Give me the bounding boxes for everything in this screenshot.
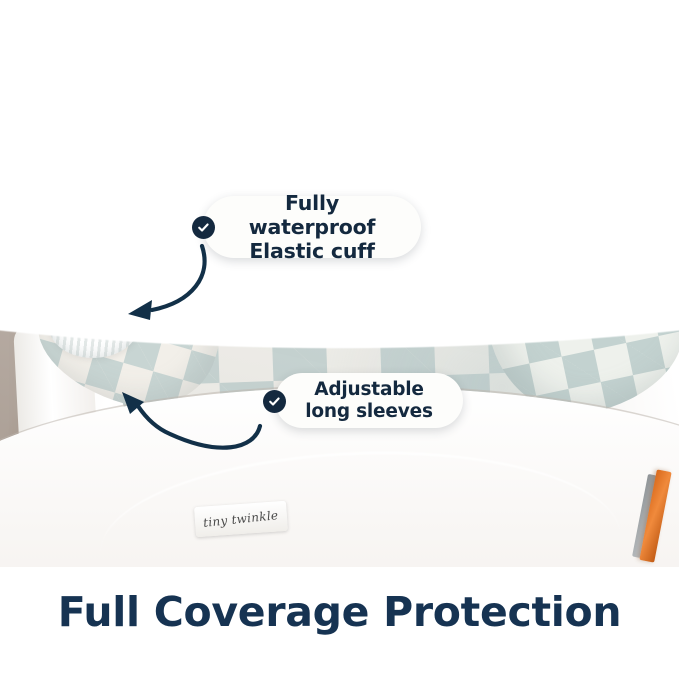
callout-badge-cuff-text: Fully waterproof Elastic cuff (229, 191, 395, 264)
callout-badge-sleeves[interactable]: Adjustable long sleeves (275, 373, 463, 428)
check-circle-icon-cuff (192, 216, 215, 239)
product-feature-graphic: tiny twinkle Fully waterproof Elastic cu… (0, 0, 679, 679)
brand-tag: tiny twinkle (194, 501, 288, 537)
callout-badge-cuff[interactable]: Fully waterproof Elastic cuff (203, 196, 421, 258)
check-circle-icon-sleeves (263, 390, 286, 413)
photo-canvas: tiny twinkle (0, 22, 679, 567)
product-photo: tiny twinkle (0, 22, 679, 567)
headline: Full Coverage Protection (0, 588, 679, 636)
brand-tag-label: tiny twinkle (203, 508, 280, 530)
callout-badge-sleeves-text: Adjustable long sleeves (305, 379, 433, 423)
